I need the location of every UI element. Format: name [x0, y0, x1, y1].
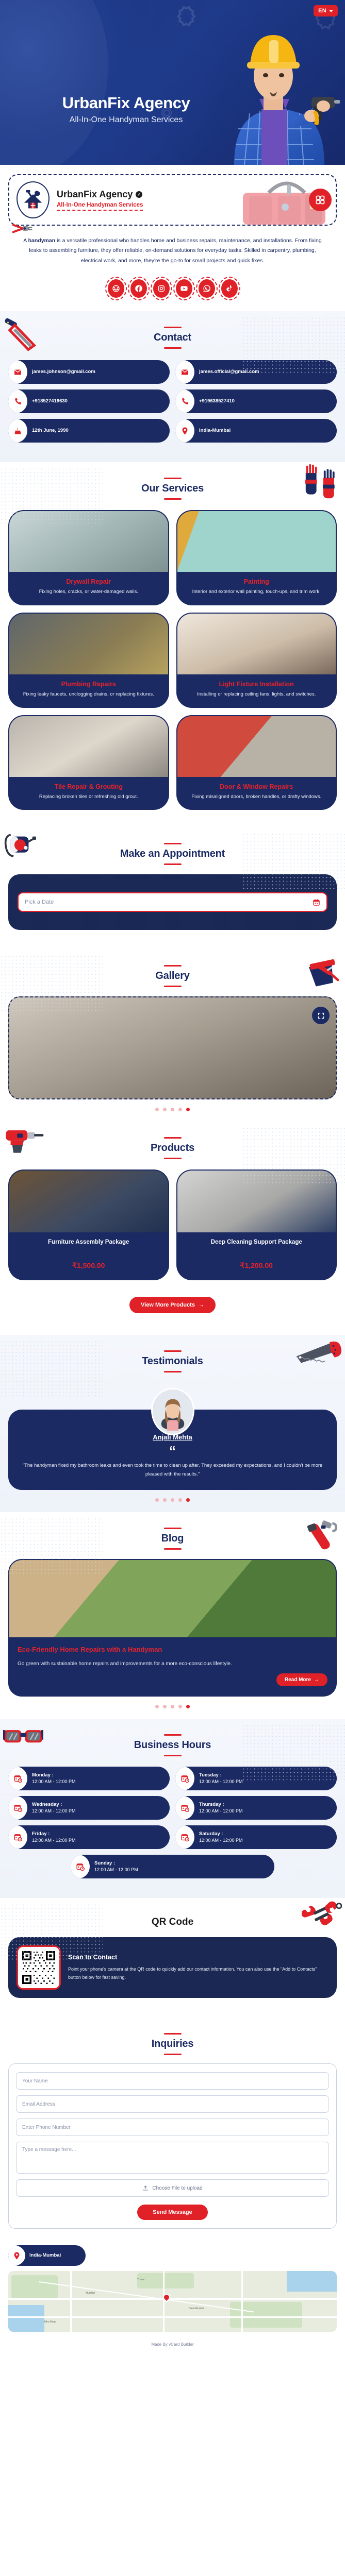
- service-desc: Fixing misaligned doors, broken handles,…: [184, 793, 330, 801]
- phone-icon: [175, 389, 194, 413]
- contact-item-birthday[interactable]: 12th June, 1990: [8, 419, 170, 443]
- about-lead: A: [23, 238, 28, 244]
- testimonials-section: Testimonials Anjali Mehta “ "The h: [0, 1335, 345, 1512]
- contact-value: james.johnson@gmail.com: [32, 369, 95, 375]
- calendar-clock-icon: [175, 1825, 194, 1849]
- carousel-dot[interactable]: [171, 1498, 174, 1502]
- title-rule-top: [164, 1528, 182, 1529]
- service-image: [177, 614, 336, 674]
- title-rule-bottom: [164, 863, 182, 865]
- map-label: Mumbai: [86, 2292, 95, 2295]
- title-rule-top: [164, 2033, 182, 2035]
- avatar: [151, 1388, 194, 1435]
- title-rule-top: [164, 843, 182, 844]
- file-upload-label: Choose File to upload: [152, 2185, 202, 2191]
- hours-day: Wednesday :: [32, 1802, 62, 1807]
- map-preview[interactable]: Mumbai Navi Mumbai Thane Mira Road: [8, 2271, 337, 2332]
- hours-text: Wednesday :12:00 AM - 12:00 PM: [32, 1802, 76, 1814]
- blog-section: Blog Eco-Friendly Home Repairs with a Ha…: [0, 1512, 345, 1719]
- avatar-photo: [153, 1389, 193, 1433]
- hours-day: Sunday :: [94, 1860, 115, 1866]
- about-paragraph: A handyman is a versatile professional w…: [8, 226, 337, 268]
- carousel-dot[interactable]: [163, 1498, 167, 1502]
- hours-day: Friday :: [32, 1831, 50, 1837]
- quote-mark-icon: “: [19, 1447, 326, 1455]
- hours-text: Monday :12:00 AM - 12:00 PM: [32, 1772, 76, 1785]
- profile-section: UrbanFix Agency ✓ All-In-One Handyman Se…: [0, 165, 345, 311]
- inquiries-title-block: Inquiries: [0, 2033, 345, 2055]
- carousel-dot[interactable]: [155, 1498, 159, 1502]
- hours-text: Sunday :12:00 AM - 12:00 PM: [94, 1860, 138, 1873]
- brand-tagline: All-In-One Handyman Services: [57, 202, 143, 211]
- title-rule-bottom: [164, 986, 182, 987]
- title-rule-bottom: [164, 347, 182, 349]
- brand-logo: [17, 181, 50, 218]
- hours-row: Thursday :12:00 AM - 12:00 PM: [175, 1796, 337, 1820]
- view-more-label: View More Products: [141, 1302, 195, 1308]
- service-desc: Replacing broken tiles or refreshing old…: [15, 793, 162, 801]
- qr-card-desc: Point your phone's camera at the QR code…: [68, 1965, 328, 1981]
- product-body: Deep Cleaning Support Package ₹1,200.00: [177, 1232, 336, 1279]
- carousel-dot[interactable]: [163, 1108, 167, 1111]
- title-rule-top: [164, 1137, 182, 1139]
- hours-range: 12:00 AM - 12:00 PM: [32, 1808, 76, 1815]
- carousel-dot[interactable]: [163, 1705, 167, 1708]
- products-title-block: Products: [0, 1137, 345, 1159]
- email-icon: [175, 360, 194, 384]
- gear-outline-icon: [170, 3, 197, 30]
- appointment-section: Make an Appointment Pick a Date: [0, 827, 345, 950]
- service-desc: Fixing holes, cracks, or water-damaged w…: [15, 588, 162, 596]
- hours-text: Tuesday :12:00 AM - 12:00 PM: [199, 1772, 243, 1785]
- dot-pattern-decor: [0, 1903, 103, 1960]
- name-input[interactable]: Your Name: [16, 2072, 329, 2090]
- hours-row: Saturday :12:00 AM - 12:00 PM: [175, 1825, 337, 1849]
- contact-value: +919638527410: [199, 398, 235, 404]
- calendar-clock-icon: [8, 1796, 27, 1820]
- carousel-dot[interactable]: [171, 1108, 174, 1111]
- title-rule-bottom: [164, 2054, 182, 2055]
- qr-grid-icon: [315, 195, 325, 205]
- contact-section: Contact james.johnson@gmail.com james.of…: [0, 311, 345, 462]
- hours-row: Sunday :12:00 AM - 12:00 PM: [71, 1855, 274, 1878]
- service-name: Tile Repair & Grouting: [15, 783, 162, 790]
- house-tools-icon: [22, 190, 44, 210]
- qr-card-title: Scan to Contact: [68, 1954, 328, 1961]
- hours-range: 12:00 AM - 12:00 PM: [32, 1838, 76, 1844]
- testimonials-title-block: Testimonials: [0, 1350, 345, 1372]
- carousel-dot[interactable]: [178, 1705, 182, 1708]
- hero-blob-decor: [0, 0, 108, 165]
- title-rule-bottom: [164, 1371, 182, 1372]
- about-bold: handyman: [28, 238, 56, 244]
- contact-item-location[interactable]: India-Mumbai: [175, 419, 337, 443]
- contact-item-phone-1[interactable]: +918527419630: [8, 389, 170, 413]
- brand-name-row: UrbanFix Agency ✓: [57, 189, 143, 200]
- carousel-dot-active[interactable]: [186, 1108, 190, 1111]
- blog-body: Eco-Friendly Home Repairs with a Handyma…: [0, 1550, 345, 1715]
- map-label: Mira Road: [44, 2320, 56, 2324]
- hero-handyman-image: [206, 10, 340, 165]
- service-body: Tile Repair & Grouting Replacing broken …: [9, 777, 168, 809]
- testimonials-title: Testimonials: [0, 1355, 345, 1367]
- carousel-dot-active[interactable]: [186, 1498, 190, 1502]
- title-rule-top: [164, 1734, 182, 1736]
- contact-value: 12th June, 1990: [32, 428, 69, 434]
- social-instagram-icon[interactable]: [153, 279, 170, 298]
- brand-block: UrbanFix Agency ✓ All-In-One Handyman Se…: [57, 189, 143, 211]
- calendar-clock-icon: [71, 1855, 90, 1878]
- service-name: Light Fixture Installation: [184, 681, 330, 688]
- service-image: [177, 511, 336, 572]
- product-name: Deep Cleaning Support Package: [183, 1239, 331, 1255]
- hours-day: Tuesday :: [199, 1772, 222, 1778]
- service-desc: Fixing leaky faucets, unclogging drains,…: [15, 691, 162, 699]
- service-body: Drywall Repair Fixing holes, cracks, or …: [9, 572, 168, 604]
- hours-day: Thursday :: [199, 1802, 224, 1807]
- testimonial-text: "The handyman fixed my bathroom leaks an…: [19, 1462, 326, 1479]
- title-rule-top: [164, 327, 182, 328]
- blog-card[interactable]: Eco-Friendly Home Repairs with a Handyma…: [8, 1559, 337, 1697]
- map-label: Thane: [137, 2278, 144, 2281]
- carousel-dot[interactable]: [155, 1705, 159, 1708]
- email-icon: [8, 360, 27, 384]
- service-desc: Installing or replacing ceiling fans, li…: [184, 691, 330, 699]
- title-rule-top: [164, 478, 182, 479]
- title-rule-bottom: [164, 498, 182, 500]
- calendar-icon: [313, 899, 320, 906]
- contact-value: India-Mumbai: [199, 428, 231, 434]
- cake-icon: [8, 419, 27, 443]
- calendar-clock-icon: [175, 1767, 194, 1790]
- contact-title-block: Contact: [0, 327, 345, 349]
- map-label: Navi Mumbai: [189, 2307, 204, 2310]
- products-title: Products: [0, 1142, 345, 1154]
- footer-credit: Made By vCard Builder: [0, 2337, 345, 2354]
- service-card[interactable]: Light Fixture Installation Installing or…: [176, 613, 337, 708]
- social-youtube-icon[interactable]: [176, 279, 192, 298]
- contact-value: +918527419630: [32, 398, 68, 404]
- blog-card-body: Eco-Friendly Home Repairs with a Handyma…: [9, 1637, 336, 1696]
- service-body: Light Fixture Installation Installing or…: [177, 674, 336, 707]
- hours-title-block: Business Hours: [0, 1734, 345, 1756]
- read-more-label: Read More: [285, 1677, 311, 1683]
- verified-badge-icon: ✓: [136, 191, 142, 198]
- map-section: India-Mumbai Mumbai Navi Mumbai Thane Mi…: [0, 2245, 345, 2354]
- services-grid: Drywall Repair Fixing holes, cracks, or …: [0, 500, 345, 823]
- services-title: Our Services: [0, 483, 345, 495]
- location-icon: [175, 419, 194, 443]
- blog-post-title: Eco-Friendly Home Repairs with a Handyma…: [18, 1646, 327, 1653]
- hours-text: Thursday :12:00 AM - 12:00 PM: [199, 1802, 243, 1814]
- view-more-products-button[interactable]: View More Products →: [129, 1297, 216, 1313]
- carousel-dot[interactable]: [178, 1108, 182, 1111]
- inquiries-body: Your Name Email Address Enter Phone Numb…: [0, 2055, 345, 2241]
- gallery-carousel-dots: [8, 1099, 337, 1114]
- product-image: [9, 1171, 168, 1232]
- service-card[interactable]: Tile Repair & Grouting Replacing broken …: [8, 715, 169, 810]
- service-name: Painting: [184, 578, 330, 585]
- products-section: Products Furniture Assembly Package ₹1,5…: [0, 1122, 345, 1335]
- service-name: Door & Window Repairs: [184, 783, 330, 790]
- title-rule-top: [164, 965, 182, 967]
- map-location-label: India-Mumbai: [29, 2252, 61, 2259]
- product-card[interactable]: Furniture Assembly Package ₹1,500.00: [8, 1170, 169, 1280]
- social-website-icon[interactable]: [108, 279, 124, 298]
- inquiries-title: Inquiries: [0, 2038, 345, 2050]
- qr-section: QR Code: [0, 1898, 345, 2018]
- date-placeholder: Pick a Date: [25, 899, 54, 905]
- appointment-title: Make an Appointment: [0, 848, 345, 860]
- social-whatsapp-icon[interactable]: [199, 279, 215, 298]
- map-location-pill[interactable]: India-Mumbai: [8, 2245, 86, 2266]
- map-body: India-Mumbai Mumbai Navi Mumbai Thane Mi…: [0, 2245, 345, 2337]
- calendar-clock-icon: [8, 1825, 27, 1849]
- email-input[interactable]: Email Address: [16, 2095, 329, 2113]
- chevron-down-icon: [329, 10, 333, 12]
- title-rule-top: [164, 1350, 182, 1352]
- blog-post-desc: Go green with sustainable home repairs a…: [18, 1659, 327, 1668]
- language-selector-button[interactable]: EN: [314, 5, 338, 16]
- gallery-title: Gallery: [0, 970, 345, 982]
- title-rule-bottom: [164, 1158, 182, 1159]
- hours-range: 12:00 AM - 12:00 PM: [94, 1867, 138, 1873]
- calendar-clock-icon: [8, 1767, 27, 1790]
- hours-text: Friday :12:00 AM - 12:00 PM: [32, 1831, 76, 1843]
- product-body: Furniture Assembly Package ₹1,500.00: [9, 1232, 168, 1279]
- hours-day: Monday :: [32, 1772, 54, 1778]
- gallery-title-block: Gallery: [0, 965, 345, 987]
- expand-icon[interactable]: [312, 1007, 330, 1024]
- arrow-right-icon: →: [199, 1302, 204, 1308]
- appointment-title-block: Make an Appointment: [0, 843, 345, 865]
- phone-icon: [8, 389, 27, 413]
- contact-item-phone-2[interactable]: +919638527410: [175, 389, 337, 413]
- brand-name: UrbanFix Agency: [57, 189, 133, 200]
- title-rule-bottom: [164, 1755, 182, 1756]
- qr-shortcut-button[interactable]: [309, 189, 332, 211]
- calendar-clock-icon: [175, 1796, 194, 1820]
- gallery-section: Gallery: [0, 950, 345, 1122]
- carousel-dot[interactable]: [171, 1705, 174, 1708]
- blog-title-block: Blog: [0, 1528, 345, 1550]
- carousel-dot[interactable]: [155, 1108, 159, 1111]
- service-card[interactable]: Plumbing Repairs Fixing leaky faucets, u…: [8, 613, 169, 708]
- about-rest: is a versatile professional who handles …: [29, 238, 321, 264]
- services-title-block: Our Services: [0, 478, 345, 500]
- social-links: [8, 268, 337, 311]
- social-tiktok-icon[interactable]: [221, 279, 238, 298]
- contact-title: Contact: [0, 332, 345, 344]
- title-rule-bottom: [164, 1548, 182, 1550]
- service-name: Drywall Repair: [15, 578, 162, 585]
- products-cta-row: View More Products →: [0, 1294, 345, 1331]
- service-image: [9, 614, 168, 674]
- testimonial-carousel-dots: [8, 1490, 337, 1505]
- service-desc: Interior and exterior wall painting, tou…: [184, 588, 330, 596]
- read-more-button[interactable]: Read More →: [276, 1673, 327, 1686]
- blog-cta-row: Read More →: [18, 1673, 327, 1686]
- business-hours-section: Business Hours Monday :12:00 AM - 12:00 …: [0, 1719, 345, 1898]
- inquiry-form: Your Name Email Address Enter Phone Numb…: [8, 2063, 337, 2229]
- product-price: ₹1,500.00: [14, 1261, 163, 1270]
- product-name: Furniture Assembly Package: [14, 1239, 163, 1255]
- qr-text-block: Scan to Contact Point your phone's camer…: [68, 1954, 328, 1981]
- profile-card: UrbanFix Agency ✓ All-In-One Handyman Se…: [8, 174, 337, 226]
- service-card[interactable]: Drywall Repair Fixing holes, cracks, or …: [8, 510, 169, 605]
- service-body: Painting Interior and exterior wall pain…: [177, 572, 336, 604]
- hours-row: Monday :12:00 AM - 12:00 PM: [8, 1767, 170, 1790]
- service-body: Door & Window Repairs Fixing misaligned …: [177, 777, 336, 809]
- service-image: [9, 716, 168, 777]
- hours-row: Wednesday :12:00 AM - 12:00 PM: [8, 1796, 170, 1820]
- submit-row: Send Message: [16, 2202, 329, 2220]
- language-label: EN: [318, 8, 326, 14]
- service-name: Plumbing Repairs: [15, 681, 162, 688]
- hours-row: Friday :12:00 AM - 12:00 PM: [8, 1825, 170, 1849]
- services-section: Our Services Drywall Repair Fixing holes…: [0, 462, 345, 827]
- service-body: Plumbing Repairs Fixing leaky faucets, u…: [9, 674, 168, 707]
- hours-range: 12:00 AM - 12:00 PM: [199, 1838, 243, 1844]
- inquiries-section: Inquiries Your Name Email Address Enter …: [0, 2018, 345, 2245]
- contact-item-email-1[interactable]: james.johnson@gmail.com: [8, 360, 170, 384]
- service-card[interactable]: Painting Interior and exterior wall pain…: [176, 510, 337, 605]
- message-input[interactable]: Type a message here...: [16, 2142, 329, 2174]
- pliers-icon: [12, 223, 36, 234]
- hours-grid-last: Sunday :12:00 AM - 12:00 PM: [0, 1849, 345, 1894]
- hours-day: Saturday :: [199, 1831, 223, 1837]
- hours-range: 12:00 AM - 12:00 PM: [199, 1808, 243, 1815]
- blog-carousel-dots: [8, 1697, 337, 1711]
- social-facebook-icon[interactable]: [130, 279, 147, 298]
- upload-icon: [142, 2185, 149, 2191]
- send-message-button[interactable]: Send Message: [137, 2205, 207, 2220]
- blog-title: Blog: [0, 1533, 345, 1545]
- product-price: ₹1,200.00: [183, 1261, 331, 1270]
- carousel-dot-active[interactable]: [186, 1705, 190, 1708]
- service-card[interactable]: Door & Window Repairs Fixing misaligned …: [176, 715, 337, 810]
- business-hours-title: Business Hours: [0, 1739, 345, 1751]
- carousel-dot[interactable]: [178, 1498, 182, 1502]
- date-picker-input[interactable]: Pick a Date: [18, 892, 327, 912]
- product-card[interactable]: Deep Cleaning Support Package ₹1,200.00: [176, 1170, 337, 1280]
- hours-text: Saturday :12:00 AM - 12:00 PM: [199, 1831, 243, 1843]
- gallery-image[interactable]: [8, 996, 337, 1099]
- phone-input[interactable]: Enter Phone Number: [16, 2119, 329, 2136]
- testimonial-card: Anjali Mehta “ "The handyman fixed my ba…: [8, 1410, 337, 1490]
- location-icon: [8, 2245, 25, 2266]
- vcard-page: EN: [0, 0, 345, 2354]
- arrow-right-icon: →: [314, 1677, 319, 1683]
- hero-section: EN: [0, 0, 345, 165]
- service-image: [177, 716, 336, 777]
- hours-range: 12:00 AM - 12:00 PM: [32, 1779, 76, 1785]
- hours-range: 12:00 AM - 12:00 PM: [199, 1779, 243, 1785]
- file-upload-input[interactable]: Choose File to upload: [16, 2179, 329, 2197]
